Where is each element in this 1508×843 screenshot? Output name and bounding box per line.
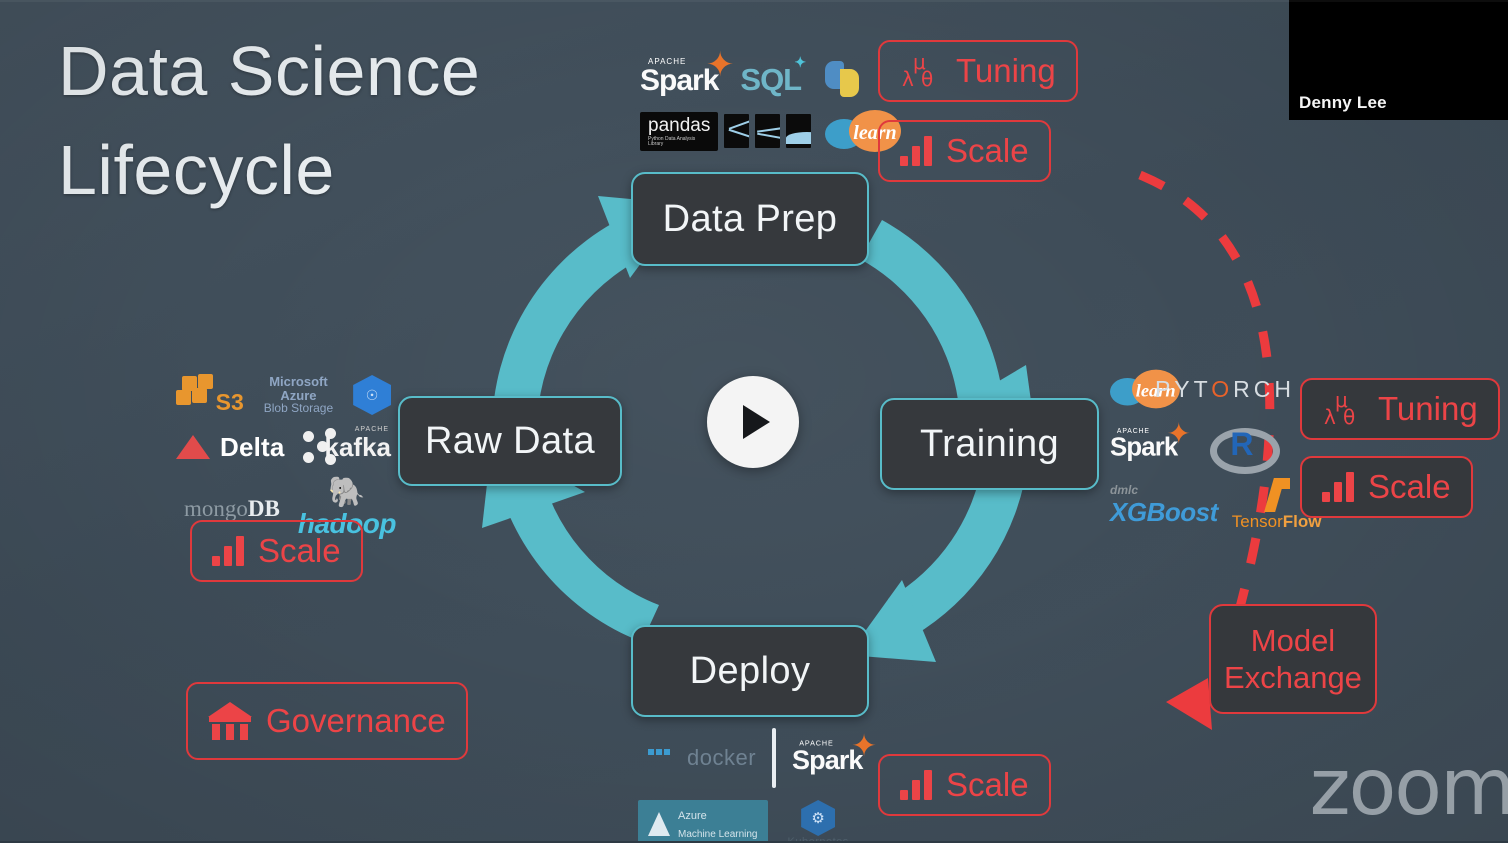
greek-letters-icon: μ λ θ [900,51,942,91]
matplotlib-logo-2 [755,114,780,148]
badge-label: Tuning [956,52,1056,90]
badge-label: Governance [266,702,446,740]
node-label: Raw Data [425,420,595,463]
bar-chart-icon [212,536,244,566]
kubernetes-logo: ⚙ Kubernetes [788,800,849,843]
logo-group-raw-data: S3 Microsoft Azure Blob Storage ☉ Delta [176,374,391,540]
docker-whale-icon [638,745,684,771]
bank-icon [208,702,252,740]
badge-tuning-training[interactable]: μ λ θ Tuning [1300,378,1500,440]
badge-label: Tuning [1378,390,1478,428]
badge-label: Scale [258,532,341,570]
spark-star-icon: ✦ [851,731,877,762]
screen-edge-top [0,0,1508,2]
kubernetes-icon: ⚙ [801,800,835,836]
presentation-slide: Data Science Lifecycle Data Prep [0,0,1508,843]
hadoop-elephant-icon: 🐘 [328,478,365,508]
lifecycle-node-deploy[interactable]: Deploy [631,625,869,717]
greek-letters-icon: μ λ θ [1322,389,1364,429]
sql-logo: SQL ✦ [740,62,801,98]
xgboost-logo: dmlc XGBoost [1110,483,1218,528]
matplotlib-logo-3 [786,114,811,148]
node-label: Deploy [690,650,811,693]
apache-spark-logo: APACHE Spark ✦ [1110,428,1177,462]
play-button[interactable] [707,376,799,468]
lifecycle-node-data-prep[interactable]: Data Prep [631,172,869,266]
matplotlib-logo-1 [724,114,749,148]
badge-scale-training[interactable]: Scale [1300,456,1473,518]
node-label: Training [920,423,1059,466]
python-logo [823,60,861,98]
tensorflow-icon [1261,478,1293,512]
spark-star-icon: ✦ [1167,419,1192,448]
badge-scale-raw-data[interactable]: Scale [190,520,363,582]
flask-icon [648,812,670,836]
delta-lake-label: Delta [220,432,285,463]
mongodb-label: mongoDB [184,496,280,522]
badge-label: Scale [1368,468,1451,506]
sql-spark-icon: ✦ [794,54,805,71]
zoom-watermark: zoom [1310,743,1508,833]
badge-label: Scale [946,132,1029,170]
participant-video-tile[interactable]: Denny Lee [1289,0,1508,120]
scikit-learn-logo: learn [1110,370,1140,409]
play-icon [743,405,770,439]
apache-spark-logo: APACHE Spark ✦ [640,58,718,98]
zoom-screen-share-window: Data Science Lifecycle Data Prep [0,0,1508,843]
azure-hex-icon: ☉ [353,375,391,415]
kafka-icon [303,428,315,466]
kafka-label: kafka APACHE [325,432,392,463]
scikit-learn-logo: learn [825,110,880,152]
bar-chart-icon [900,770,932,800]
badge-model-exchange[interactable]: Model Exchange [1209,604,1377,714]
bar-chart-icon [1322,472,1354,502]
participant-name-label: Denny Lee [1289,88,1405,120]
r-language-logo: R [1210,424,1266,466]
node-label: Data Prep [663,198,838,241]
spark-star-icon: ✦ [706,48,735,82]
badge-scale-data-prep[interactable]: Scale [878,120,1051,182]
badge-label: Model Exchange [1224,622,1362,696]
pandas-logo: pandas Python Data Analysis Library [640,112,718,151]
badge-scale-deploy[interactable]: Scale [878,754,1051,816]
badge-tuning-data-prep[interactable]: μ λ θ Tuning [878,40,1078,102]
badge-governance[interactable]: Governance [186,682,468,760]
lifecycle-node-raw-data[interactable]: Raw Data [398,396,622,486]
logo-group-deploy: docker APACHE Spark ✦ Azure Machine Lear… [638,728,868,843]
lifecycle-node-training[interactable]: Training [880,398,1099,490]
pytorch-logo: PYTORCH [1155,376,1295,403]
azure-blob-storage-logo: Microsoft Azure Blob Storage [250,375,347,415]
apache-spark-logo: APACHE Spark ✦ [792,740,863,776]
logo-group-data-prep: APACHE Spark ✦ SQL ✦ pandas Pyth [640,58,880,152]
bar-chart-icon [900,136,932,166]
docker-logo: docker [638,745,756,771]
logo-group-training: learn PYTORCH APACHE Spark ✦ R [1110,368,1295,532]
delta-lake-icon [176,435,210,459]
azure-machine-learning-logo: Azure Machine Learning [638,800,768,843]
aws-s3-logo: S3 [176,374,244,416]
mobile-device-icon [772,728,776,788]
badge-label: Scale [946,766,1029,804]
